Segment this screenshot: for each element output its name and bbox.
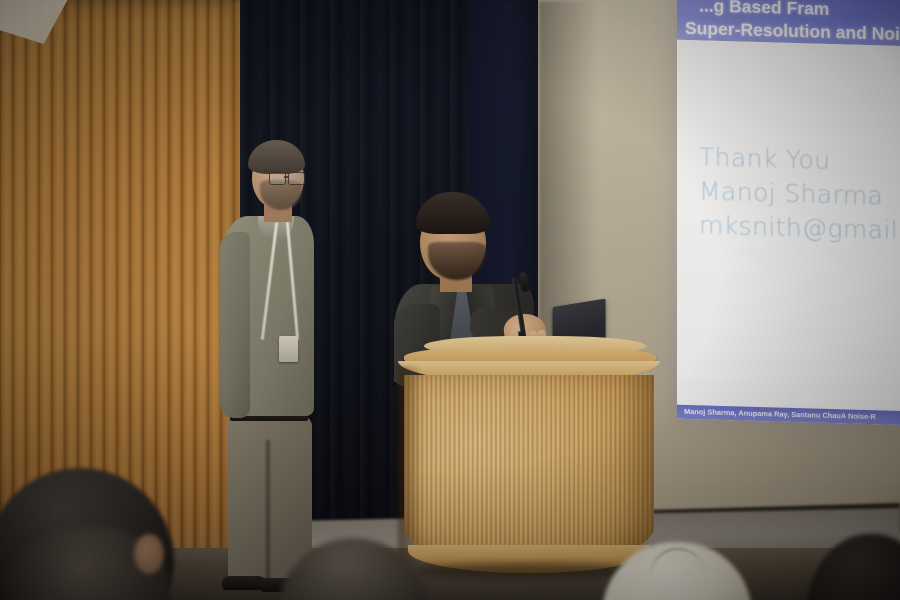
presentation-photo: ...g Based Fram Super-Resolution and Noi… [0, 0, 900, 600]
audience-ear [134, 534, 164, 574]
standing-man-leg-split [266, 440, 270, 582]
glasses-lens-left [269, 172, 286, 185]
podium-body [404, 375, 654, 565]
lanyard-strap-right [286, 222, 299, 340]
podium [398, 345, 660, 577]
podium-base-shadow [414, 563, 644, 579]
speaker-hair [416, 192, 490, 234]
slide-body: Thank You Manoj Sharma mksnith@gmail.co [677, 40, 900, 412]
standing-man-arm [220, 232, 250, 418]
standing-man-badge [279, 336, 298, 362]
glasses-icon [269, 172, 305, 183]
standing-man-hair [248, 140, 305, 174]
glasses-bridge [284, 176, 289, 178]
projection-screen: ...g Based Fram Super-Resolution and Noi… [677, 0, 900, 425]
slide-body-line-3: mksnith@gmail.co [699, 208, 900, 248]
standing-man-lanyard [268, 222, 298, 342]
glasses-lens-right [288, 172, 305, 185]
standing-man-left [216, 140, 336, 590]
slide-title: ...g Based Fram Super-Resolution and Noi… [677, 0, 900, 46]
podium-side-shadow [398, 367, 422, 567]
